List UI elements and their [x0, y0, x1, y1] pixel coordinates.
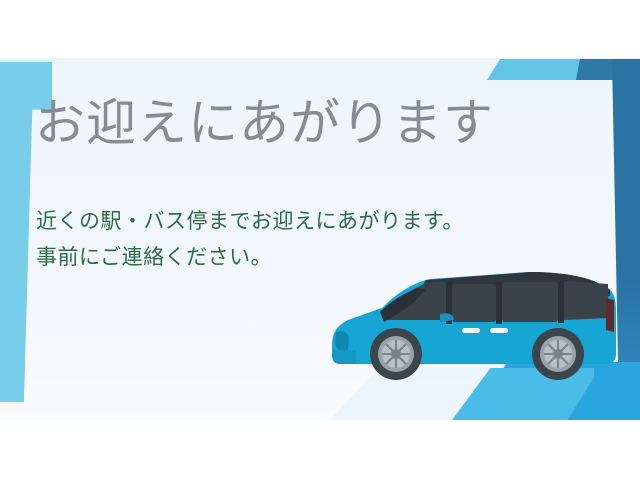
promo-banner: お迎えにあがります 近くの駅・バス停までお迎えにあがります。 事前にご連絡くださ…: [0, 0, 640, 480]
description-line-1: 近くの駅・バス停までお迎えにあがります。: [36, 204, 464, 240]
minivan-icon: [322, 250, 622, 390]
page-title: お迎えにあがります: [35, 95, 494, 151]
